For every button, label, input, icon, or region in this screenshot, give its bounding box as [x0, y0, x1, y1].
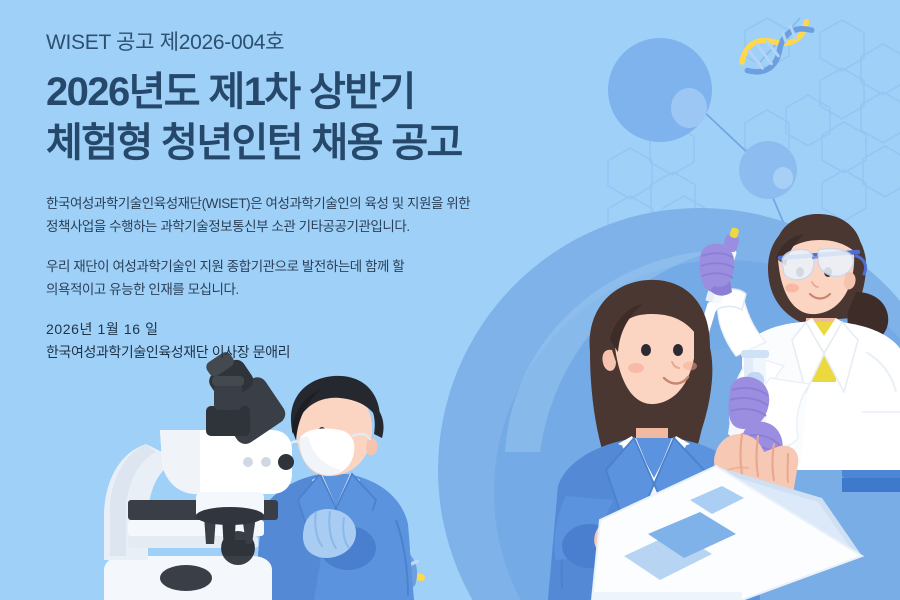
- signature-date: 2026년 1월 16 일: [46, 318, 646, 341]
- headline-line-1: 2026년도 제1차 상반기: [46, 67, 646, 118]
- intro-paragraph-1: 한국여성과학기술인육성재단(WISET)은 여성과학기술인의 육성 및 지원을 …: [46, 192, 646, 238]
- poster-text-block: WISET 공고 제2026-004호 2026년도 제1차 상반기 체험형 청…: [46, 30, 646, 364]
- announcement-number: WISET 공고 제2026-004호: [46, 30, 646, 55]
- signature-block: 2026년 1월 16 일 한국여성과학기술인육성재단 이사장 문애리: [46, 318, 646, 363]
- microscope-icon: [104, 342, 294, 600]
- paragraph-1-line-2: 정책사업을 수행하는 과학기술정보통신부 소관 기타공공기관입니다.: [46, 215, 646, 238]
- paragraph-2-line-2: 의욕적이고 유능한 인재를 모십니다.: [46, 278, 646, 301]
- page-title: 2026년도 제1차 상반기 체험형 청년인턴 채용 공고: [46, 67, 646, 169]
- signature-signer: 한국여성과학기술인육성재단 이사장 문애리: [46, 341, 646, 364]
- recruitment-poster: WISET 공고 제2026-004호 2026년도 제1차 상반기 체험형 청…: [0, 0, 900, 600]
- paragraph-1-line-1: 한국여성과학기술인육성재단(WISET)은 여성과학기술인의 육성 및 지원을 …: [46, 192, 646, 215]
- intro-paragraph-2: 우리 재단이 여성과학기술인 지원 종합기관으로 발전하는데 함께 할 의욕적이…: [46, 255, 646, 301]
- headline-line-2: 체험형 청년인턴 채용 공고: [46, 118, 646, 169]
- paragraph-2-line-1: 우리 재단이 여성과학기술인 지원 종합기관으로 발전하는데 함께 할: [46, 255, 646, 278]
